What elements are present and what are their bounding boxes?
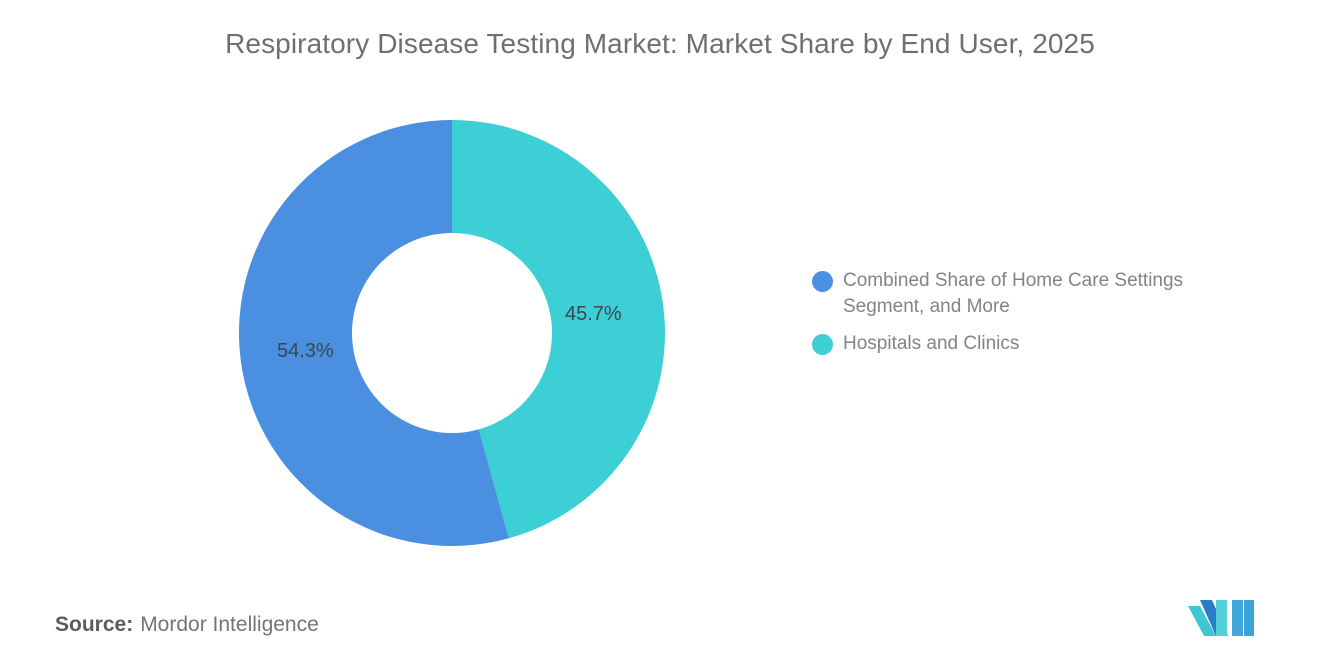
legend-item-label: Hospitals and Clinics	[843, 331, 1019, 357]
legend-swatch-circle-icon	[812, 271, 833, 292]
slice-value-label-home-care-settings: 54.3%	[277, 340, 334, 363]
chart-legend: Combined Share of Home Care Settings Seg…	[812, 268, 1282, 369]
source-attribution: Source:Mordor Intelligence	[55, 613, 319, 637]
mi-monogram-icon	[1186, 596, 1256, 638]
donut-chart-svg	[237, 118, 667, 548]
legend-swatch-circle-icon	[812, 334, 833, 355]
donut-hole	[352, 233, 552, 433]
legend-item-hospitals-and-clinics[interactable]: Hospitals and Clinics	[812, 331, 1282, 357]
source-value: Mordor Intelligence	[140, 613, 319, 636]
donut-chart	[237, 118, 667, 548]
legend-item-label: Combined Share of Home Care Settings Seg…	[843, 268, 1248, 319]
slice-value-label-hospitals-and-clinics: 45.7%	[565, 303, 622, 326]
mordor-intelligence-logo	[1186, 596, 1256, 638]
chart-canvas: Respiratory Disease Testing Market: Mark…	[0, 0, 1320, 665]
source-label: Source:	[55, 613, 133, 636]
legend-item-home-care-settings[interactable]: Combined Share of Home Care Settings Seg…	[812, 268, 1282, 319]
chart-title: Respiratory Disease Testing Market: Mark…	[0, 28, 1320, 60]
